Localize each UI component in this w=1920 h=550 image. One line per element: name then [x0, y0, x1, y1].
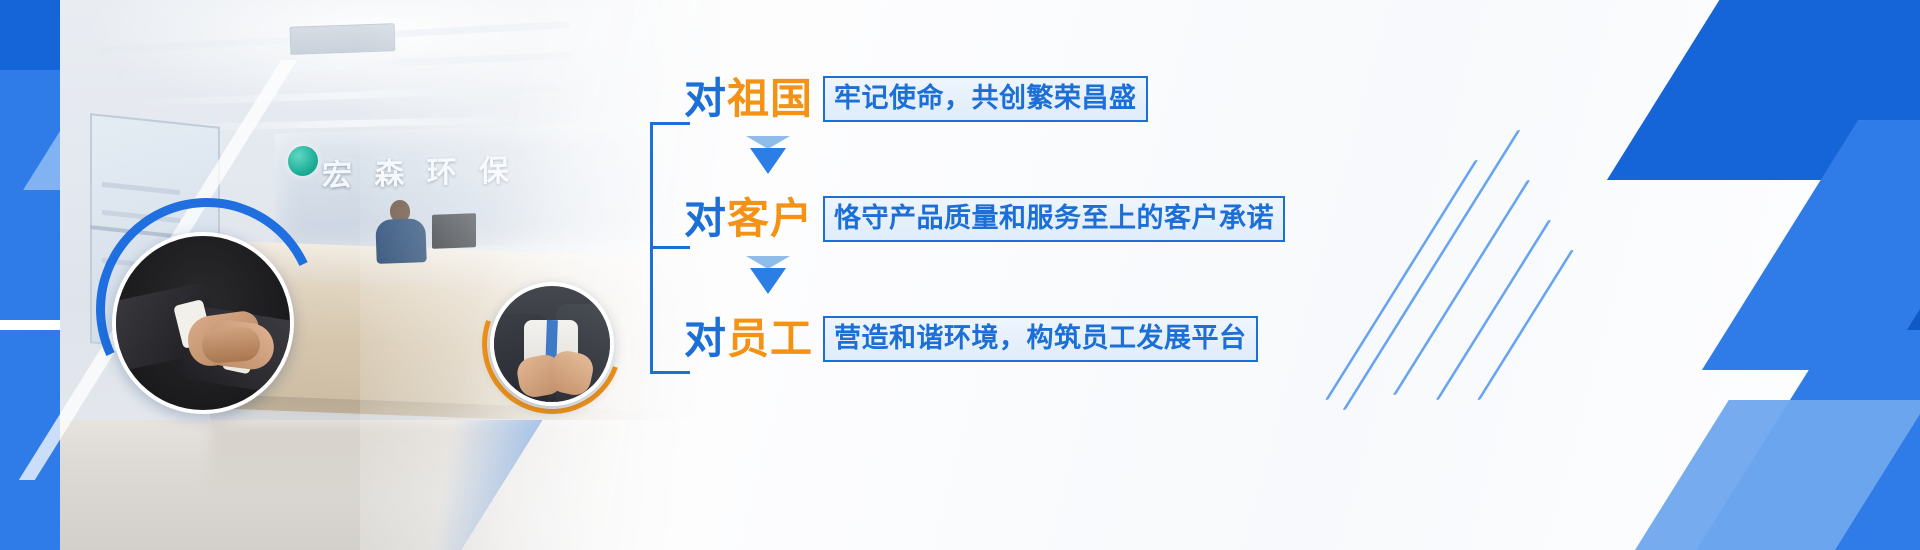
mission-title-employee: 对员工 [684, 318, 813, 360]
mission-row-customer: 对客户 恪守产品质量和服务至上的客户承诺 [684, 190, 1350, 248]
handshake-fingers [201, 326, 261, 364]
mission-title-country: 对祖国 [684, 78, 813, 120]
diagonal-line [1343, 130, 1521, 410]
arrow-cell-2 [684, 248, 1350, 310]
mission-rows: 对祖国 牢记使命，共创繁荣昌盛 对客户 恪守产品质量和服务至上的客户承诺 [684, 70, 1350, 368]
arrow-cell-1 [684, 128, 1350, 190]
bracket-branch-line [650, 371, 690, 374]
decorative-diagonal-lines [1400, 120, 1660, 450]
mission-tree: 对祖国 牢记使命，共创繁荣昌盛 对客户 恪守产品质量和服务至上的客户承诺 [650, 70, 1350, 400]
mission-title-prefix: 对 [684, 75, 727, 122]
mission-title-prefix: 对 [684, 315, 727, 362]
mission-description-country: 牢记使命，共创繁荣昌盛 [823, 76, 1148, 122]
mission-title-highlight: 客户 [727, 195, 813, 242]
handshake-photo [112, 232, 294, 414]
diagonal-line [1477, 250, 1574, 400]
mission-title-prefix: 对 [684, 195, 727, 242]
mission-title-highlight: 祖国 [727, 75, 813, 122]
down-arrow-bottom [750, 148, 786, 174]
mission-row-employee: 对员工 营造和谐环境，构筑员工发展平台 [684, 310, 1350, 368]
mission-title-customer: 对客户 [684, 198, 813, 240]
mission-description-employee: 营造和谐环境，构筑员工发展平台 [823, 316, 1258, 362]
company-culture-banner: 宏 森 环 保 HONGSEN ENVIRONMENTAL PROTECTION [0, 0, 1920, 550]
down-arrow-bottom [750, 268, 786, 294]
mission-row-country: 对祖国 牢记使命，共创繁荣昌盛 [684, 70, 1350, 128]
team-photo [490, 282, 614, 406]
mission-description-customer: 恪守产品质量和服务至上的客户承诺 [823, 196, 1285, 242]
mission-title-highlight: 员工 [727, 315, 813, 362]
